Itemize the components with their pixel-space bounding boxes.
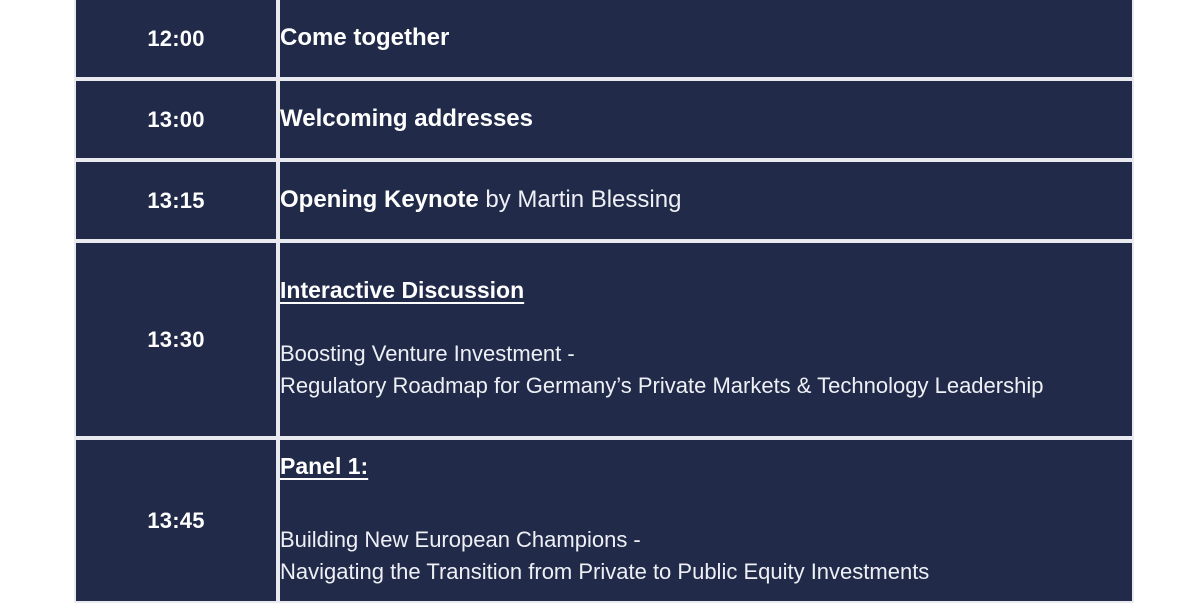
agenda-title-regular: by Martin Blessing <box>479 186 682 213</box>
agenda-title-bold: Come together <box>280 24 449 51</box>
agenda-section-heading: Panel 1: <box>280 453 368 480</box>
agenda-content-cell: Opening Keynote by Martin Blessing <box>278 160 1134 241</box>
agenda-time-cell: 13:45 <box>74 438 278 603</box>
table-row: 12:00 Come together <box>74 0 1134 79</box>
agenda-table-body: 12:00 Come together 13:00 Welcoming addr… <box>74 0 1134 603</box>
agenda-title-bold: Opening Keynote <box>280 186 479 213</box>
agenda-time-cell: 13:00 <box>74 79 278 160</box>
spacer <box>280 480 1132 524</box>
agenda-title: Welcoming addresses <box>280 104 1132 135</box>
table-row: 13:45 Panel 1: Building New European Cha… <box>74 438 1134 603</box>
agenda-time-cell: 12:00 <box>74 0 278 79</box>
table-row: 13:30 Interactive Discussion Boosting Ve… <box>74 241 1134 438</box>
agenda-table-container: 12:00 Come together 13:00 Welcoming addr… <box>74 0 1134 603</box>
agenda-time-cell: 13:15 <box>74 160 278 241</box>
agenda-table: 12:00 Come together 13:00 Welcoming addr… <box>74 0 1134 603</box>
agenda-description: Building New European Champions - Naviga… <box>280 524 1132 588</box>
agenda-title: Opening Keynote by Martin Blessing <box>280 185 1132 216</box>
agenda-content-cell: Panel 1: Building New European Champions… <box>278 438 1134 603</box>
spacer <box>280 304 1132 338</box>
agenda-time-cell: 13:30 <box>74 241 278 438</box>
agenda-section-heading: Interactive Discussion <box>280 277 524 304</box>
table-row: 13:15 Opening Keynote by Martin Blessing <box>74 160 1134 241</box>
agenda-title: Come together <box>280 23 1132 54</box>
table-row: 13:00 Welcoming addresses <box>74 79 1134 160</box>
agenda-content-cell: Interactive Discussion Boosting Venture … <box>278 241 1134 438</box>
agenda-title-bold: Welcoming addresses <box>280 105 533 132</box>
agenda-description: Boosting Venture Investment - Regulatory… <box>280 338 1132 402</box>
agenda-content-cell: Welcoming addresses <box>278 79 1134 160</box>
agenda-content-cell: Come together <box>278 0 1134 79</box>
